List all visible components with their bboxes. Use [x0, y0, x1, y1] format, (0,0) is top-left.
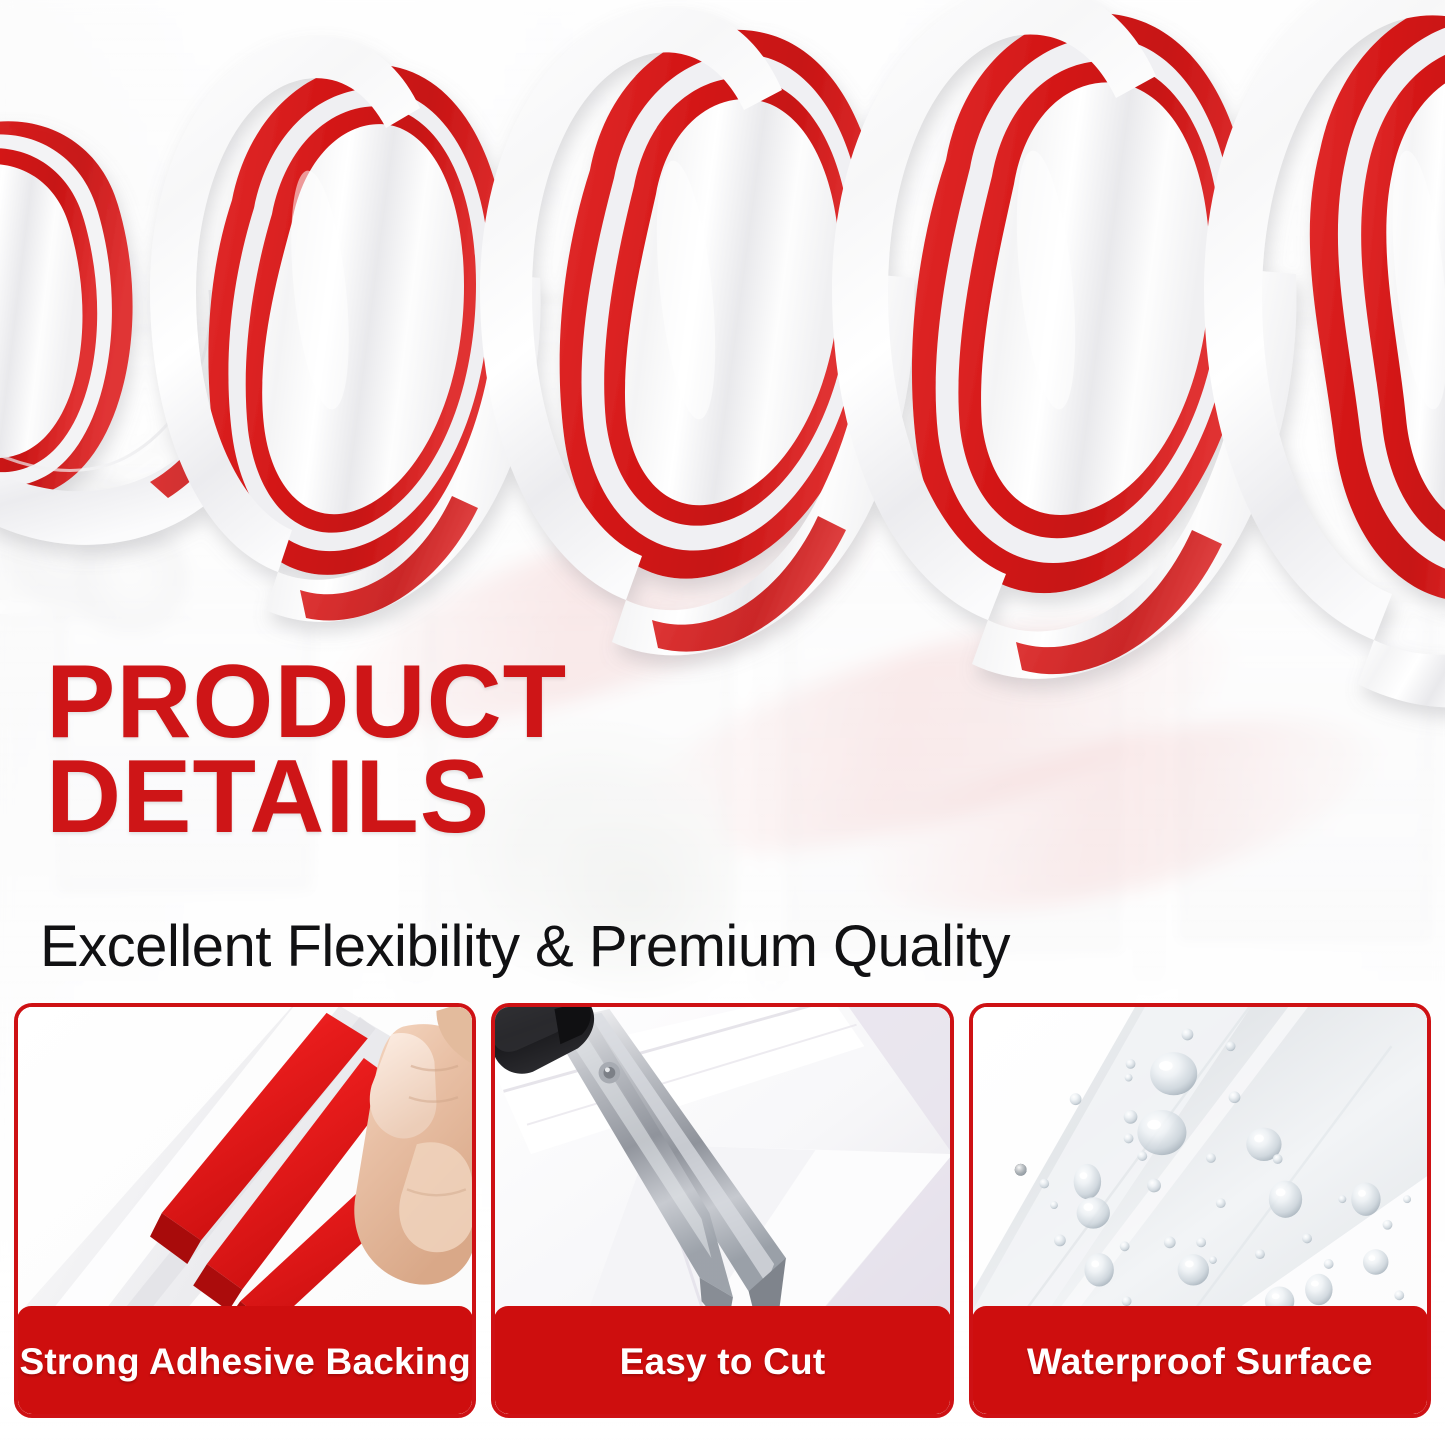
feature-caption-cut: Easy to Cut — [494, 1306, 950, 1418]
page-title-line-2: DETAILS — [46, 750, 1146, 845]
feature-caption-label: Waterproof Surface — [1027, 1341, 1373, 1383]
feature-card-cut[interactable]: Easy to Cut — [491, 1003, 953, 1418]
feature-caption-waterproof: Waterproof Surface — [972, 1306, 1428, 1418]
feature-caption-label: Strong Adhesive Backing — [19, 1341, 470, 1383]
feature-caption-label: Easy to Cut — [620, 1341, 826, 1383]
feature-card-waterproof[interactable]: Waterproof Surface — [969, 1003, 1431, 1418]
feature-card-row: Strong Adhesive Backing — [14, 1003, 1431, 1418]
feature-caption-adhesive: Strong Adhesive Backing — [17, 1306, 473, 1418]
product-details-infographic: PRODUCT DETAILS Excellent Flexibility & … — [0, 0, 1445, 1445]
page-title-line-1: PRODUCT — [46, 655, 1146, 750]
feature-card-adhesive[interactable]: Strong Adhesive Backing — [14, 1003, 476, 1418]
heading-block: PRODUCT DETAILS — [46, 655, 1146, 845]
page-subtitle: Excellent Flexibility & Premium Quality — [40, 915, 1010, 979]
tape-coil-group — [0, 0, 1445, 707]
